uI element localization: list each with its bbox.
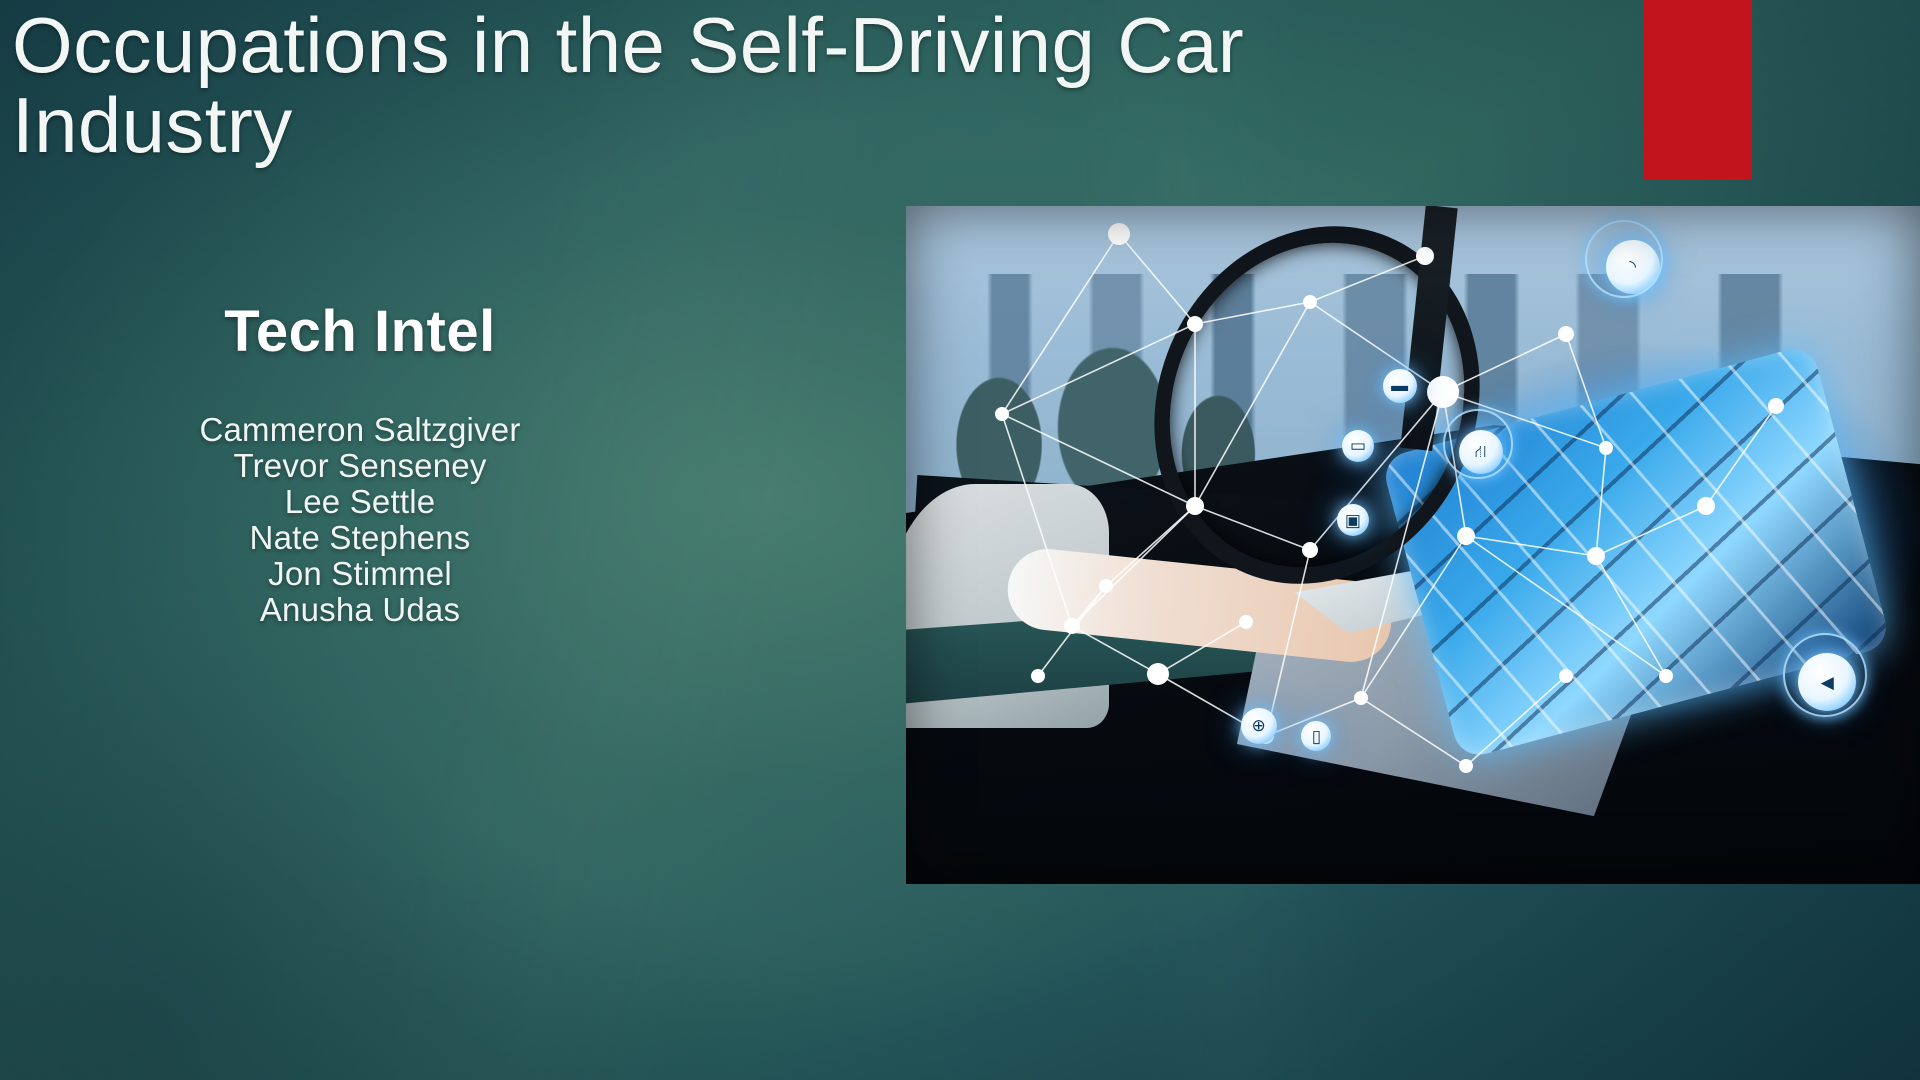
slide-title: Occupations in the Self-Driving Car Indu… [12,6,1412,165]
presenter-name-list: Cammeron Saltzgiver Trevor Senseney Lee … [60,412,660,628]
presenter-name: Nate Stephens [60,520,660,556]
presenter-name: Lee Settle [60,484,660,520]
organization-name: Tech Intel [60,300,660,364]
wifi-icon-ring [1585,220,1663,298]
presenter-name: Jon Stimmel [60,556,660,592]
globe-icon: ⊕ [1241,708,1277,744]
presenter-name: Trevor Senseney [60,448,660,484]
presenter-name: Cammeron Saltzgiver [60,412,660,448]
subtitle-block: Tech Intel Cammeron Saltzgiver Trevor Se… [60,300,660,628]
self-driving-car-photo: ◝ ⛙ ▬ ▭ ▣ ◀ ⊕ ▯ [906,206,1920,884]
tablet-icon: ▭ [1342,430,1374,462]
speaker-icon-ring [1783,633,1867,717]
battery-icon: ▬ [1383,369,1417,403]
presenter-name: Anusha Udas [60,592,660,628]
red-accent-rectangle [1644,0,1752,180]
presentation-slide: Occupations in the Self-Driving Car Indu… [0,0,1920,1080]
